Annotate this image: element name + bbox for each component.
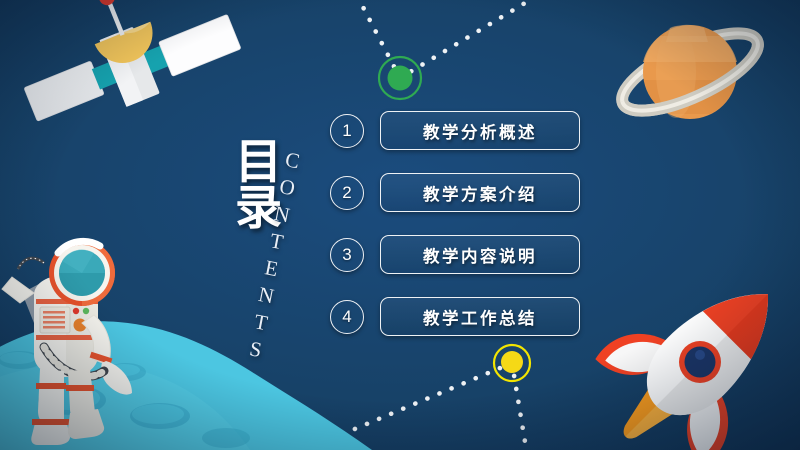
toc-item-4[interactable]: 4 教学工作总结 [330,294,580,339]
toc-number-3: 3 [330,238,364,272]
toc-label-4[interactable]: 教学工作总结 [380,297,580,336]
toc-number-1: 1 [330,114,364,148]
toc-item-2[interactable]: 2 教学方案介绍 [330,170,580,215]
toc-number-4: 4 [330,300,364,334]
toc-item-1[interactable]: 1 教学分析概述 [330,108,580,153]
toc-item-3[interactable]: 3 教学内容说明 [330,232,580,277]
toc-list: 1 教学分析概述 2 教学方案介绍 3 教学内容说明 4 教学工作总结 [330,108,580,356]
toc-label-1[interactable]: 教学分析概述 [380,111,580,150]
toc-title-block: 目 录 CONTENTS [222,140,332,285]
toc-number-2: 2 [330,176,364,210]
toc-label-3[interactable]: 教学内容说明 [380,235,580,274]
toc-label-2[interactable]: 教学方案介绍 [380,173,580,212]
presentation-slide: .dots { fill: none; stroke: #ffffff; str… [0,0,800,450]
